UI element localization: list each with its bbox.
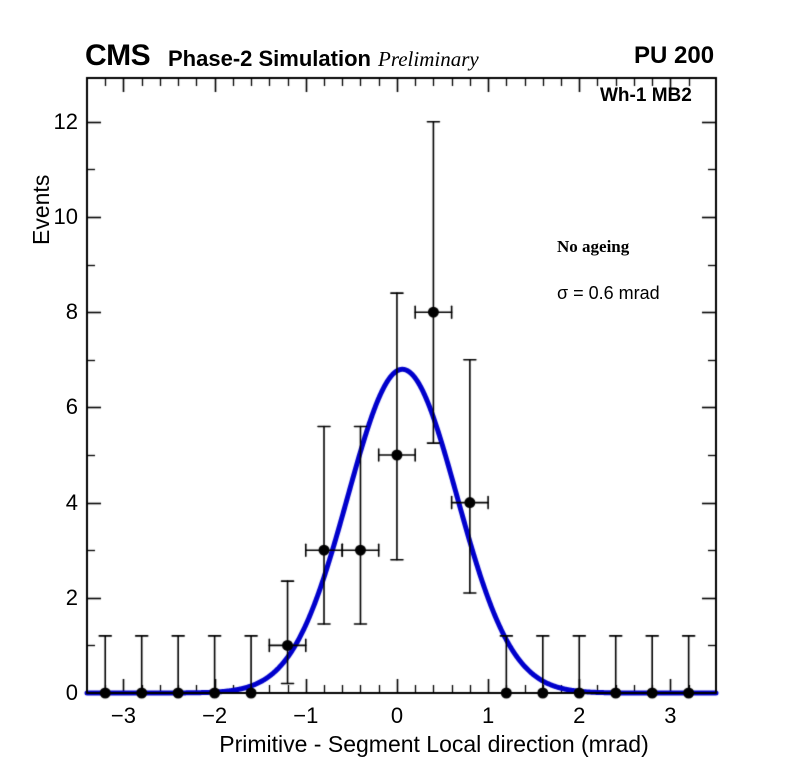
y-tick-label: 0 — [66, 680, 78, 706]
y-tick-label: 10 — [54, 204, 78, 230]
y-tick-label: 4 — [66, 490, 78, 516]
y-axis-title: Events — [28, 45, 55, 245]
y-tick-label: 12 — [54, 109, 78, 135]
x-tick-label: −1 — [293, 703, 318, 729]
cms-logo-label: CMS — [85, 39, 150, 73]
phase2-simulation-label: Phase-2 Simulation — [168, 46, 371, 72]
x-tick-label: −3 — [111, 703, 136, 729]
plot-canvas — [0, 0, 796, 772]
x-tick-label: 3 — [664, 703, 676, 729]
y-tick-label: 8 — [66, 299, 78, 325]
y-tick-label: 6 — [66, 394, 78, 420]
sigma-value-label: σ = 0.6 mrad — [557, 283, 660, 304]
y-tick-label: 2 — [66, 585, 78, 611]
x-tick-label: 0 — [391, 703, 403, 729]
x-axis-title: Primitive - Segment Local direction (mra… — [0, 731, 796, 758]
x-tick-label: 1 — [482, 703, 494, 729]
pileup-label: PU 200 — [634, 42, 714, 70]
x-tick-label: −2 — [202, 703, 227, 729]
x-tick-label: 2 — [573, 703, 585, 729]
wheel-station-label: Wh-1 MB2 — [600, 85, 692, 107]
ageing-scenario-label: No ageing — [557, 237, 629, 257]
preliminary-label: Preliminary — [378, 47, 479, 72]
